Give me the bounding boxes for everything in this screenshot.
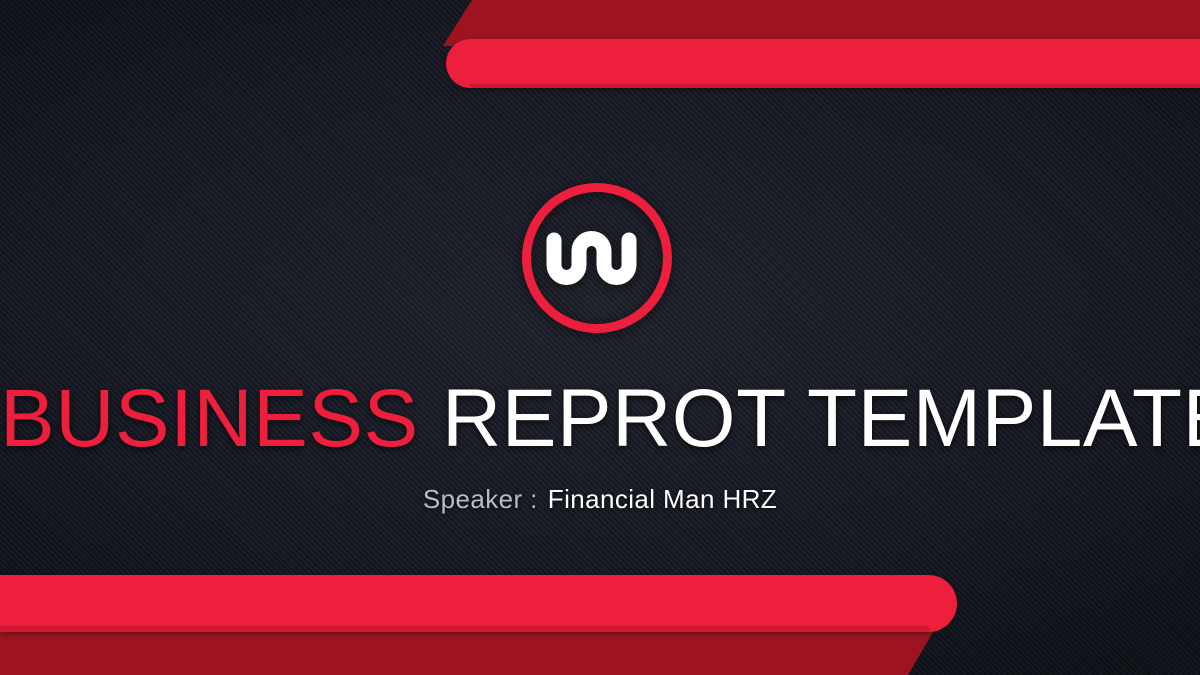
bottom-banner-dark-slab: [0, 625, 1200, 675]
logo-wave-mark: [554, 239, 629, 278]
background-vignette: [0, 0, 1200, 675]
subtitle-container: Speaker :Financial Man HRZ: [0, 486, 1200, 512]
diagonal-stripe-background: [0, 0, 1200, 675]
speaker-label: Speaker :: [423, 484, 538, 514]
title-slide: BUSINESS REPROT TEMPLATE Speaker :Financ…: [0, 0, 1200, 675]
top-banner-bright-bar: [446, 39, 1200, 88]
title-space: [419, 373, 442, 464]
logo-svg: [522, 183, 672, 333]
wave-monogram-in-circle-logo: [522, 183, 672, 333]
title-container: BUSINESS REPROT TEMPLATE: [0, 378, 1200, 460]
title-accent-word: BUSINESS: [0, 373, 419, 464]
bottom-banner-bar-shadow-lip: [0, 626, 930, 632]
speaker-name: Financial Man HRZ: [548, 484, 777, 514]
page-title: BUSINESS REPROT TEMPLATE: [0, 378, 1200, 460]
speaker-line: Speaker :Financial Man HRZ: [0, 486, 1200, 512]
top-banner-bar-shadow-lip: [470, 84, 1200, 88]
bottom-banner-bright-bar: [0, 575, 957, 632]
title-plain-words: REPROT TEMPLATE: [442, 373, 1200, 464]
